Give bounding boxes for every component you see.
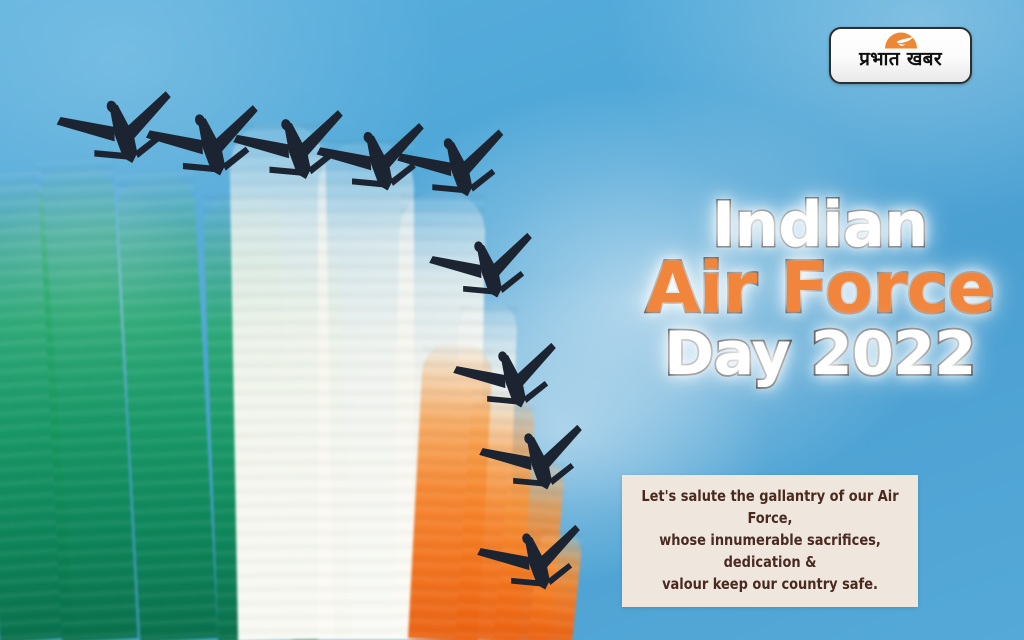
headline-line-day-2022: Day 2022 <box>620 326 1020 382</box>
jet-6 <box>425 222 552 329</box>
headline-line-air-force: Air Force <box>620 256 1020 322</box>
sunrise-bird-icon <box>884 32 918 49</box>
poster-canvas: Indian Air Force Day 2022 Let's salute t… <box>0 0 1024 640</box>
prabhat-khabar-logo[interactable]: प्रभात खबर <box>829 27 972 84</box>
jet-9 <box>473 514 600 621</box>
logo-wordmark: प्रभात खबर <box>859 50 942 69</box>
caption-box: Let's salute the gallantry of our Air Fo… <box>622 475 918 607</box>
caption-text: Let's salute the gallantry of our Air Fo… <box>640 485 900 595</box>
headline-block: Indian Air Force Day 2022 <box>620 196 1020 382</box>
headline-line-indian: Indian <box>620 196 1020 254</box>
